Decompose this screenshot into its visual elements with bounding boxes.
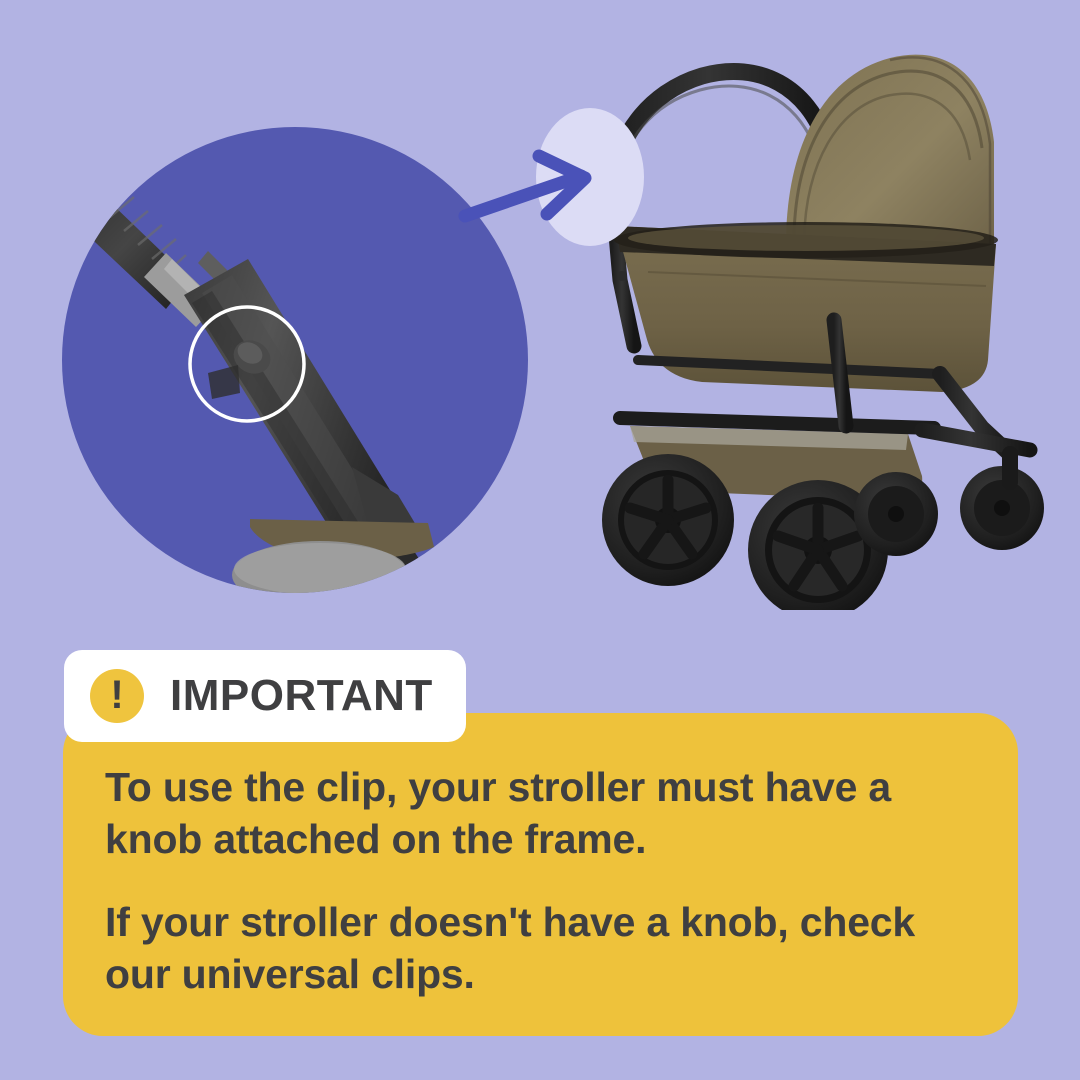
important-label: IMPORTANT [170, 671, 433, 721]
note-p1-part1: To use the clip, your stroller [105, 764, 656, 810]
knob-bracket [208, 365, 240, 399]
note-paragraph-1: To use the clip, your stroller must have… [105, 761, 968, 866]
note-p2-bold: universal [182, 951, 360, 997]
rear-wheel-inner [854, 472, 938, 556]
front-wheel-left [602, 454, 734, 586]
exclamation-glyph: ! [110, 675, 123, 715]
infographic-canvas: To use the clip, your stroller must have… [0, 0, 1080, 1080]
note-p2-part2: clips. [360, 951, 475, 997]
stroller-illustration [590, 30, 1060, 610]
important-note-panel: To use the clip, your stroller must have… [63, 713, 1018, 1036]
stroller-photo [590, 30, 1060, 610]
exclamation-icon: ! [90, 669, 144, 723]
pointer-arrow [455, 140, 635, 250]
important-badge: ! IMPORTANT [64, 650, 466, 742]
note-p1-bold: must have [656, 764, 857, 810]
note-paragraph-2: If your stroller doesn't have a knob, ch… [105, 896, 968, 1001]
basket-top-bar [620, 418, 934, 428]
knob-left [617, 271, 627, 281]
